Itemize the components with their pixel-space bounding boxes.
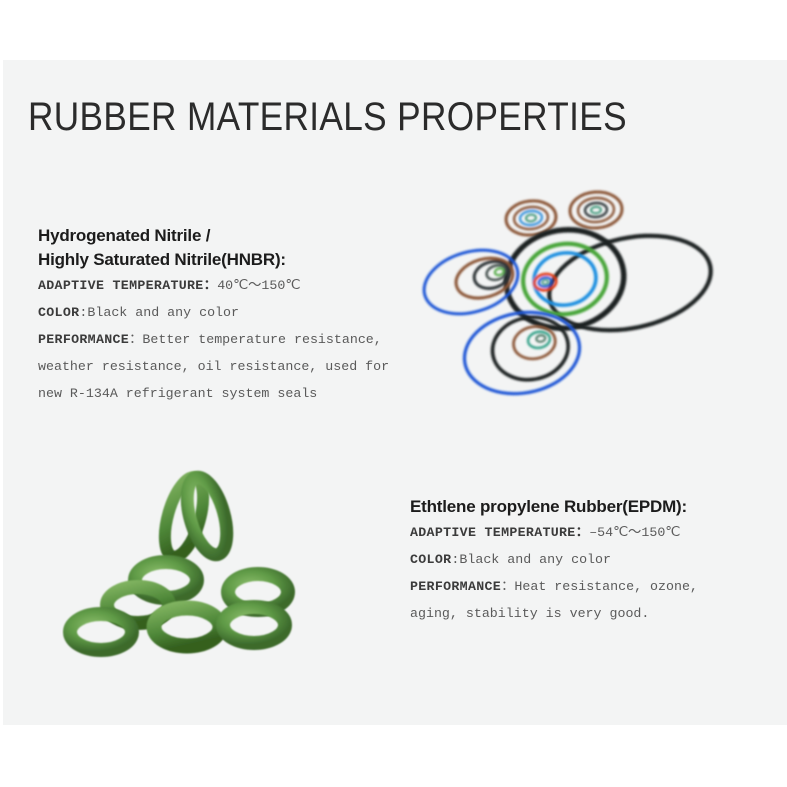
epdm-temperature-value: –54℃～150℃ [589,525,680,540]
epdm-temperature-label: ADAPTIVE TEMPERATURE： [410,525,589,540]
hnbr-spec-performance: PERFORMANCE：Better temperature resistanc… [38,326,389,353]
epdm-performance-line-2-value: aging, stability is very good. [410,606,649,621]
hnbr-spec-color: COLOR:Black and any color [38,299,389,326]
epdm-performance-line-2: aging, stability is very good. [410,600,698,627]
oring-photo-green [62,462,334,678]
epdm-spec-performance: PERFORMANCE：Heat resistance, ozone, [410,573,698,600]
material-block-epdm: Ethtlene propylene Rubber(EPDM): ADAPTIV… [410,495,698,627]
epdm-spec-color: COLOR:Black and any color [410,546,698,573]
hnbr-performance-line-3: new R-134A refrigerant system seals [38,380,389,407]
oring-photo-multicolor [398,178,732,402]
material-block-hnbr: Hydrogenated Nitrile / Highly Saturated … [38,224,389,407]
epdm-spec-temperature: ADAPTIVE TEMPERATURE：–54℃～150℃ [410,519,698,546]
hnbr-performance-line-2-value: weather resistance, oil resistance, used… [38,359,389,374]
epdm-performance-value: ：Heat resistance, ozone, [501,579,698,594]
hnbr-temperature-label: ADAPTIVE TEMPERATURE： [38,278,217,293]
epdm-color-label: COLOR [410,552,451,567]
hnbr-performance-value: ：Better temperature resistance, [129,332,382,347]
hnbr-performance-line-2: weather resistance, oil resistance, used… [38,353,389,380]
hnbr-color-value: :Black and any color [79,305,239,320]
hnbr-color-label: COLOR [38,305,79,320]
hnbr-heading-line-2: Highly Saturated Nitrile(HNBR): [38,248,389,272]
epdm-performance-label: PERFORMANCE [410,579,501,594]
epdm-color-value: :Black and any color [451,552,611,567]
page-title: RUBBER MATERIALS PROPERTIES [28,94,627,140]
hnbr-temperature-value: 40℃～150℃ [217,278,300,293]
hnbr-heading-line-1: Hydrogenated Nitrile / [38,224,389,248]
hnbr-spec-temperature: ADAPTIVE TEMPERATURE：40℃～150℃ [38,272,389,299]
hnbr-performance-label: PERFORMANCE [38,332,129,347]
epdm-heading-line-1: Ethtlene propylene Rubber(EPDM): [410,495,698,519]
slide-root: RUBBER MATERIALS PROPERTIES Hydrogenated… [0,0,787,787]
hnbr-performance-line-3-value: new R-134A refrigerant system seals [38,386,317,401]
